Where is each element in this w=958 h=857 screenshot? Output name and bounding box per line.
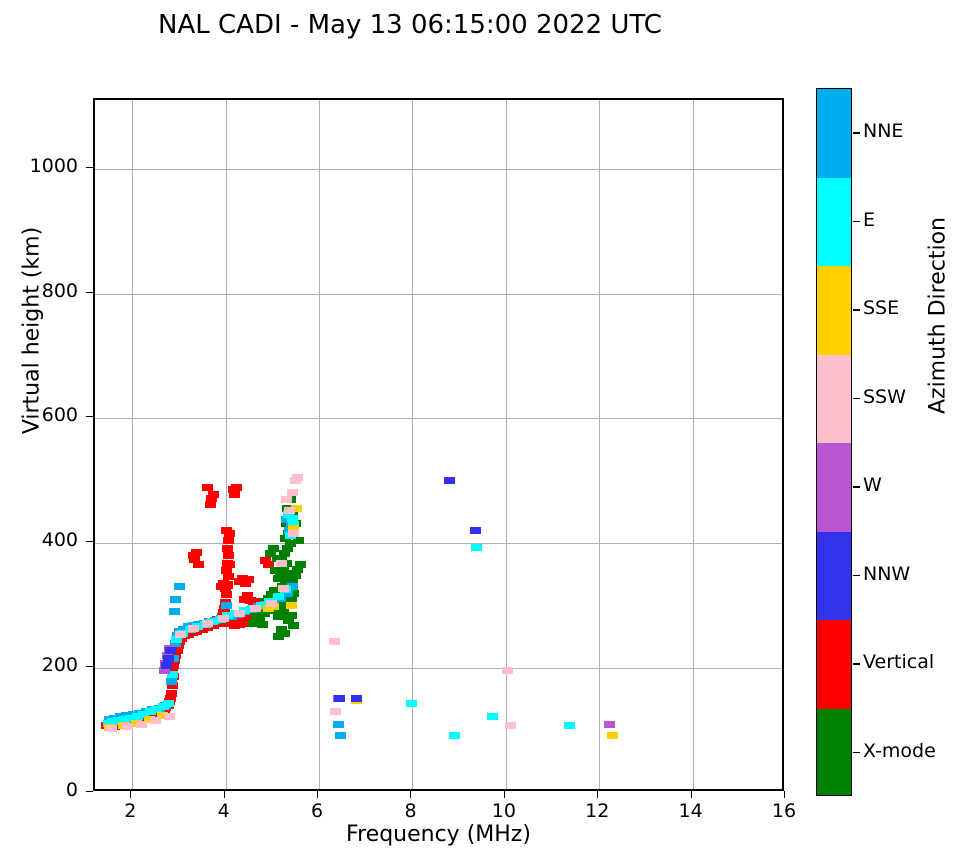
data-point-ssw: [150, 717, 161, 724]
colorbar-tick: [853, 132, 860, 134]
colorbar-label-nnw: NNW: [863, 563, 910, 585]
data-point-ssw: [329, 638, 340, 645]
data-point-e: [406, 700, 417, 707]
gridline-vertical: [319, 100, 320, 789]
x-tick: [317, 791, 318, 798]
colorbar: [816, 88, 852, 796]
gridline-vertical: [132, 100, 133, 789]
gridline-horizontal: [95, 418, 782, 419]
colorbar-label-nne: NNE: [863, 120, 903, 142]
colorbar-tick: [853, 575, 860, 577]
data-point-nne: [174, 583, 185, 590]
colorbar-segment-sse: [817, 266, 851, 355]
data-point-ssw: [505, 722, 516, 729]
data-point-x-mode: [295, 561, 306, 568]
data-point-nne: [169, 608, 180, 615]
x-tick-label: 10: [474, 800, 534, 822]
colorbar-tick: [853, 221, 860, 223]
data-point-vertical: [222, 581, 233, 588]
x-tick: [784, 791, 785, 798]
gridline-horizontal: [95, 668, 782, 669]
data-point-x-mode: [288, 622, 299, 629]
data-point-vertical: [208, 491, 219, 498]
gridline-horizontal: [95, 294, 782, 295]
x-tick-label: 12: [567, 800, 627, 822]
data-point-nne: [166, 678, 177, 685]
data-point-ssw: [164, 713, 175, 720]
data-point-vertical: [231, 484, 242, 491]
page-title: NAL CADI - May 13 06:15:00 2022 UTC: [0, 10, 820, 40]
data-point-x-mode: [273, 633, 284, 640]
data-point-nnw: [334, 695, 345, 702]
data-point-vertical: [205, 501, 216, 508]
data-point-ssw: [278, 585, 289, 592]
y-tick: [86, 666, 93, 667]
data-point-vertical: [221, 527, 232, 534]
data-point-ssw: [188, 625, 199, 632]
colorbar-segment-vertical: [817, 620, 851, 709]
data-point-vertical: [221, 591, 232, 598]
x-tick-label: 14: [661, 800, 721, 822]
data-point-x-mode: [270, 567, 281, 574]
data-point-vertical: [223, 537, 234, 544]
colorbar-label-ssw: SSW: [863, 386, 906, 408]
data-point-nnw: [444, 477, 455, 484]
data-point-ssw: [234, 610, 245, 617]
colorbar-tick: [853, 486, 860, 488]
x-tick: [410, 791, 411, 798]
data-point-vertical: [260, 557, 271, 564]
x-tick-label: 8: [380, 800, 440, 822]
data-point-ssw: [266, 600, 277, 607]
x-tick: [691, 791, 692, 798]
colorbar-segment-nnw: [817, 532, 851, 621]
data-point-nnw: [470, 527, 481, 534]
data-point-ssw: [281, 496, 292, 503]
data-point-vertical: [191, 549, 202, 556]
data-point-nne: [335, 732, 346, 739]
data-point-ssw: [175, 631, 186, 638]
x-tick-label: 4: [194, 800, 254, 822]
colorbar-tick: [853, 309, 860, 311]
colorbar-label-vertical: Vertical: [863, 651, 934, 673]
data-point-ssw: [250, 605, 261, 612]
colorbar-label-w: W: [863, 474, 882, 496]
data-point-vertical: [193, 561, 204, 568]
data-point-e: [487, 713, 498, 720]
data-point-x-mode: [290, 572, 301, 579]
data-point-vertical: [166, 690, 177, 697]
data-point-nnw: [161, 662, 172, 669]
x-tick: [504, 791, 505, 798]
ionogram-figure: NAL CADI - May 13 06:15:00 2022 UTC 2468…: [0, 0, 958, 857]
colorbar-segment-x-mode: [817, 709, 851, 797]
data-point-x-mode: [248, 620, 259, 627]
colorbar-tick: [853, 398, 860, 400]
plot-area: [93, 98, 784, 791]
data-point-ssw: [122, 723, 133, 730]
colorbar-segment-nne: [817, 89, 851, 178]
y-tick-label: 0: [0, 779, 78, 801]
gridline-horizontal: [95, 543, 782, 544]
data-point-ssw: [284, 507, 295, 514]
data-point-ssw: [218, 615, 229, 622]
data-point-w: [604, 721, 615, 728]
data-point-ssw: [276, 560, 287, 567]
x-axis-label: Frequency (MHz): [93, 822, 784, 847]
data-point-nne: [333, 721, 344, 728]
gridline-horizontal: [95, 169, 782, 170]
data-point-vertical: [222, 545, 233, 552]
data-point-vertical: [229, 491, 240, 498]
x-tick-label: 16: [754, 800, 814, 822]
data-point-vertical: [224, 561, 235, 568]
colorbar-segment-e: [817, 178, 851, 267]
data-point-ssw: [287, 489, 298, 496]
data-point-vertical: [243, 576, 254, 583]
y-tick: [86, 167, 93, 168]
data-point-e: [163, 700, 174, 707]
y-tick: [86, 541, 93, 542]
data-point-nnw: [163, 655, 174, 662]
y-tick: [86, 791, 93, 792]
data-point-ssw: [292, 474, 303, 481]
data-point-nnw: [165, 647, 176, 654]
data-point-ssw: [202, 620, 213, 627]
data-point-ssw: [136, 721, 147, 728]
data-point-x-mode: [265, 550, 276, 557]
colorbar-tick: [853, 752, 860, 754]
x-tick: [224, 791, 225, 798]
data-point-nnw: [351, 695, 362, 702]
gridline-vertical: [599, 100, 600, 789]
x-tick: [597, 791, 598, 798]
gridline-vertical: [693, 100, 694, 789]
colorbar-segment-ssw: [817, 355, 851, 444]
data-point-ssw: [288, 530, 299, 537]
data-point-e: [471, 544, 482, 551]
y-tick-label: 200: [0, 654, 78, 676]
colorbar-label-e: E: [863, 209, 875, 231]
colorbar-label: Azimuth Direction: [926, 171, 951, 461]
data-point-sse: [286, 602, 297, 609]
data-point-nne: [221, 602, 232, 609]
data-point-e: [564, 722, 575, 729]
y-tick: [86, 292, 93, 293]
data-point-nne: [170, 596, 181, 603]
y-axis-label: Virtual height (km): [20, 171, 45, 491]
data-point-ssw: [330, 708, 341, 715]
data-point-sse: [607, 732, 618, 739]
gridline-vertical: [506, 100, 507, 789]
x-tick: [130, 791, 131, 798]
data-point-ssw: [106, 725, 117, 732]
data-point-ssw: [502, 667, 513, 674]
y-tick: [86, 416, 93, 417]
x-tick-label: 6: [287, 800, 347, 822]
gridline-vertical: [226, 100, 227, 789]
data-point-vertical: [202, 484, 213, 491]
x-tick-label: 2: [100, 800, 160, 822]
data-point-e: [449, 732, 460, 739]
colorbar-segment-w: [817, 443, 851, 532]
data-point-vertical: [221, 567, 232, 574]
y-tick-label: 400: [0, 529, 78, 551]
data-point-x-mode: [286, 612, 297, 619]
colorbar-label-sse: SSE: [863, 297, 899, 319]
gridline-vertical: [412, 100, 413, 789]
colorbar-tick: [853, 663, 860, 665]
colorbar-label-x-mode: X-mode: [863, 740, 936, 762]
data-point-vertical: [223, 552, 234, 559]
